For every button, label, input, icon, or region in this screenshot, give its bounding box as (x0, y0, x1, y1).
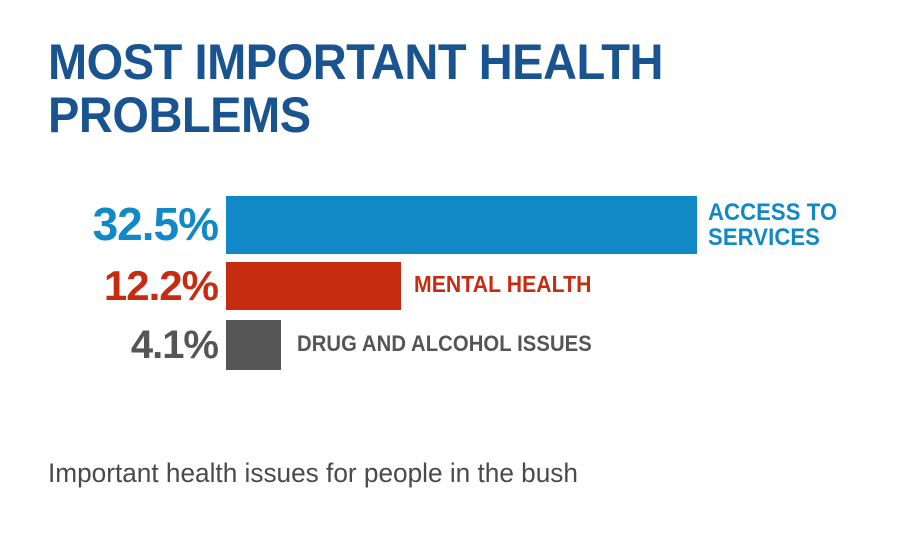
bar-chart: 32.5% Access to services 12.2% Mental he… (0, 196, 900, 378)
value-label-mental-health: 12.2% (0, 262, 218, 310)
category-label-access-to-services: Access to services (708, 201, 837, 251)
value-label-drug-and-alcohol-issues: 4.1% (0, 320, 218, 370)
chart-caption: Important health issues for people in th… (48, 458, 578, 489)
category-label-mental-health: Mental health (414, 273, 592, 297)
bar-drug-and-alcohol-issues (226, 320, 281, 370)
bar-row-drug-and-alcohol-issues: 4.1% Drug and alcohol issues (0, 320, 900, 378)
category-label-drug-and-alcohol-issues: Drug and alcohol issues (297, 333, 592, 356)
page-title: Most important health problems (48, 36, 706, 142)
value-label-access-to-services: 32.5% (0, 194, 218, 254)
bar-row-mental-health: 12.2% Mental health (0, 262, 900, 320)
bar-access-to-services (226, 196, 697, 254)
infographic-canvas: Most important health problems 32.5% Acc… (0, 0, 900, 545)
bar-mental-health (226, 262, 401, 310)
bar-row-access-to-services: 32.5% Access to services (0, 196, 900, 262)
